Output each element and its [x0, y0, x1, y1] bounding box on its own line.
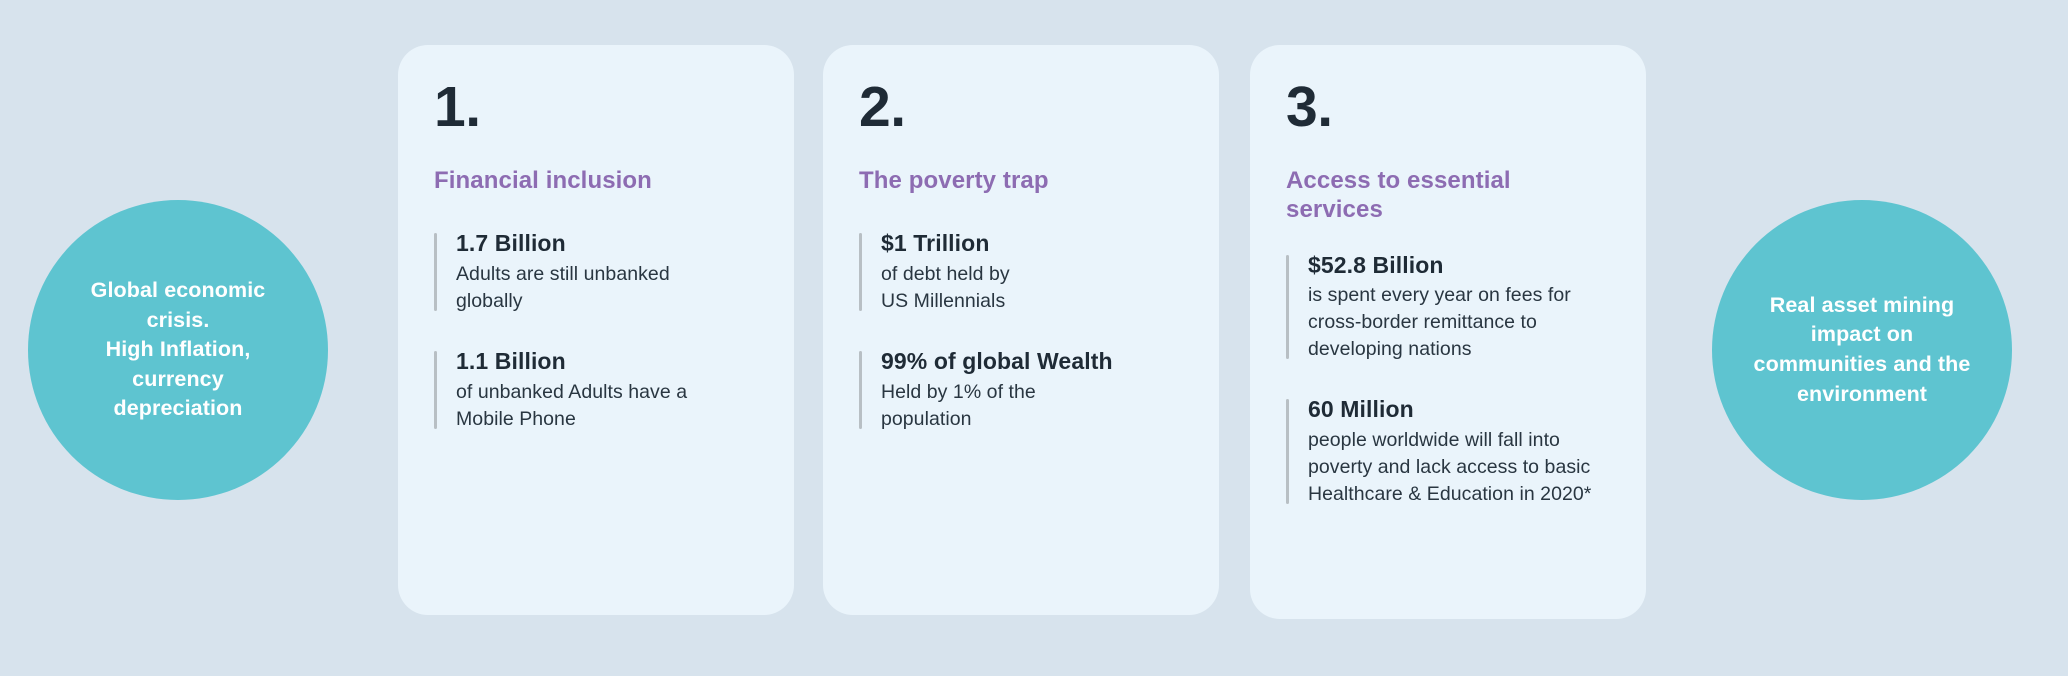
stat-item: 60 Million people worldwide will fall in… — [1286, 395, 1610, 508]
stat-value: 1.7 Billion — [456, 229, 758, 259]
card-2-title: The poverty trap — [859, 166, 1183, 195]
stat-item: 99% of global Wealth Held by 1% of the p… — [859, 347, 1183, 433]
card-3-number: 3. — [1286, 79, 1610, 136]
stat-rule-icon — [1286, 255, 1289, 360]
stat-value: $1 Trillion — [881, 229, 1183, 259]
card-1-number: 1. — [434, 79, 758, 136]
right-context-circle: Real asset mining impact on communities … — [1712, 200, 2012, 500]
stat-description: of debt held by US Millennials — [881, 261, 1183, 315]
stat-item: 1.7 Billion Adults are still unbanked gl… — [434, 229, 758, 315]
stat-description: is spent every year on fees for cross-bo… — [1308, 282, 1610, 363]
card-poverty-trap[interactable]: 2. The poverty trap $1 Trillion of debt … — [823, 45, 1219, 615]
stat-description: Adults are still unbanked globally — [456, 261, 758, 315]
stat-item: $52.8 Billion is spent every year on fee… — [1286, 251, 1610, 364]
left-context-circle: Global economic crisis. High Inflation, … — [28, 200, 328, 500]
card-1-title: Financial inclusion — [434, 166, 758, 195]
stat-description: people worldwide will fall into poverty … — [1308, 427, 1610, 508]
card-3-title: Access to essential services — [1286, 166, 1610, 225]
card-2-stat-list: $1 Trillion of debt held by US Millennia… — [859, 229, 1183, 432]
stat-rule-icon — [1286, 399, 1289, 504]
stat-rule-icon — [859, 233, 862, 311]
infographic-stage: Global economic crisis. High Inflation, … — [0, 0, 2068, 676]
left-circle-text: Global economic crisis. High Inflation, … — [91, 276, 266, 424]
card-financial-inclusion[interactable]: 1. Financial inclusion 1.7 Billion Adult… — [398, 45, 794, 615]
stat-value: 99% of global Wealth — [881, 347, 1183, 377]
right-circle-text: Real asset mining impact on communities … — [1754, 291, 1971, 410]
card-1-stat-list: 1.7 Billion Adults are still unbanked gl… — [434, 229, 758, 432]
stat-item: 1.1 Billion of unbanked Adults have a Mo… — [434, 347, 758, 433]
stat-rule-icon — [859, 351, 862, 429]
stat-value: $52.8 Billion — [1308, 251, 1610, 281]
stat-value: 1.1 Billion — [456, 347, 758, 377]
stat-rule-icon — [434, 351, 437, 429]
card-access-essential-services[interactable]: 3. Access to essential services $52.8 Bi… — [1250, 45, 1646, 619]
stat-rule-icon — [434, 233, 437, 311]
card-3-stat-list: $52.8 Billion is spent every year on fee… — [1286, 251, 1610, 508]
card-2-number: 2. — [859, 79, 1183, 136]
stat-description: of unbanked Adults have a Mobile Phone — [456, 379, 758, 433]
stat-item: $1 Trillion of debt held by US Millennia… — [859, 229, 1183, 315]
stat-value: 60 Million — [1308, 395, 1610, 425]
stat-description: Held by 1% of the population — [881, 379, 1183, 433]
